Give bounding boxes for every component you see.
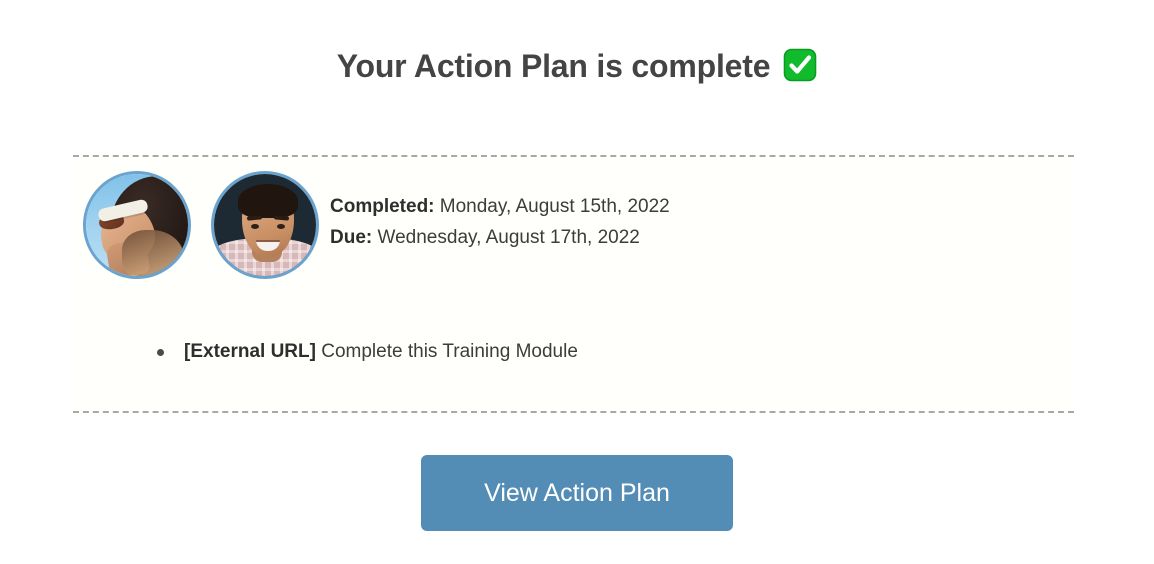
avatar-hair [238,184,298,218]
completed-date-line: Completed: Monday, August 15th, 2022 [330,191,670,222]
task-list: [External URL] Complete this Training Mo… [157,339,578,365]
list-item: [External URL] Complete this Training Mo… [157,339,578,365]
email-notification-page: Your Action Plan is complete [0,0,1154,564]
plan-dates: Completed: Monday, August 15th, 2022 Due… [330,191,670,253]
completed-label: Completed: [330,196,435,217]
due-value: Wednesday, August 17th, 2022 [378,227,640,248]
action-plan-summary-panel: Completed: Monday, August 15th, 2022 Due… [73,155,1074,413]
avatar-hair-highlight [122,230,184,279]
avatar-eye-right [277,224,285,229]
avatar-eye-left [251,224,259,229]
view-action-plan-button[interactable]: View Action Plan [421,455,733,531]
due-date-line: Due: Wednesday, August 17th, 2022 [330,222,670,253]
completed-value: Monday, August 15th, 2022 [440,196,670,217]
green-check-mark-icon [783,48,817,82]
page-title-text: Your Action Plan is complete [337,48,771,84]
avatar-woman-sunglasses [83,171,191,279]
due-label: Due: [330,227,372,248]
cta-container: View Action Plan [0,455,1154,531]
assignee-avatar-group [83,171,319,279]
page-title: Your Action Plan is complete [0,48,1154,85]
task-label: Complete this Training Module [321,341,578,362]
avatar-man-checked-shirt [211,171,319,279]
task-external-url-tag: [External URL] [184,341,316,362]
